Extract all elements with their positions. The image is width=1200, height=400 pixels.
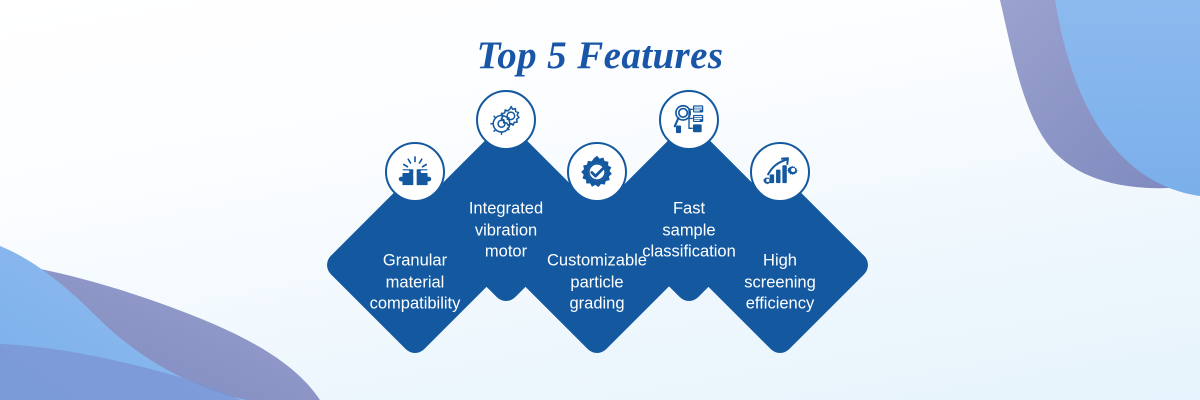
magnifier-documents-icon [659,90,719,150]
infographic-canvas: Top 5 Features Granular material compati… [0,0,1200,400]
puzzle-pieces-icon [385,142,445,202]
gear-check-icon [567,142,627,202]
feature-label: High screening efficiency [705,251,855,316]
growth-chart-gears-icon [750,142,810,202]
page-title: Top 5 Features [0,36,1200,75]
gears-icon [476,90,536,150]
title-container: Top 5 Features [0,36,1200,75]
